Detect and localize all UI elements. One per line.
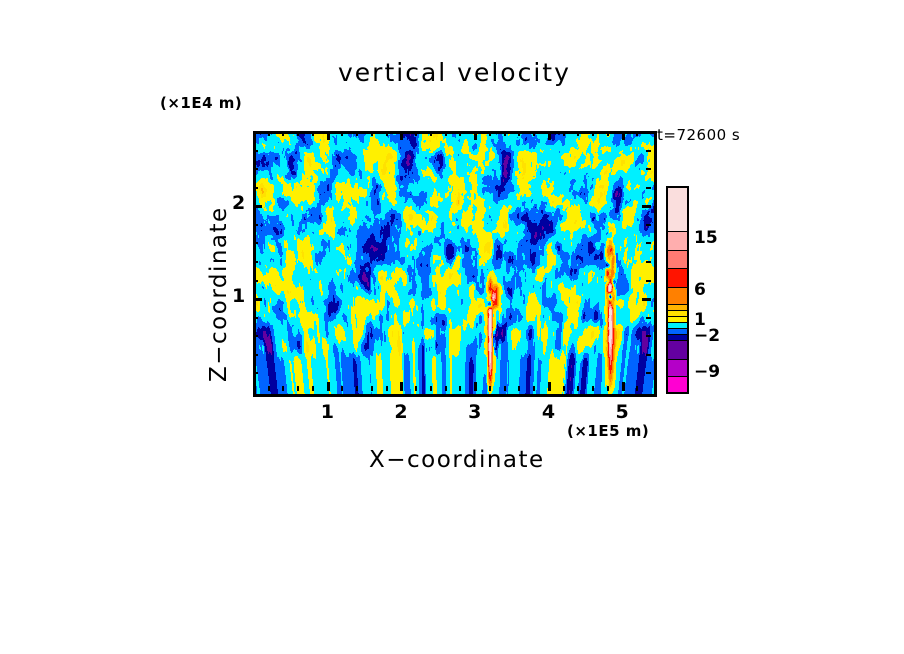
x-axis-unit-label: (×1E5 m)	[567, 422, 649, 440]
axis-tick	[415, 131, 417, 136]
axis-tick	[489, 386, 491, 391]
colorbar-tick-label: 6	[694, 280, 706, 300]
axis-tick	[327, 382, 330, 391]
axis-tick	[253, 280, 258, 282]
axis-tick	[646, 150, 651, 152]
axis-tick	[297, 131, 299, 136]
axis-tick	[356, 386, 358, 391]
axis-tick	[253, 372, 258, 374]
colorbar-segment	[668, 268, 687, 287]
axis-tick	[282, 131, 284, 136]
axis-tick	[646, 242, 651, 244]
axis-tick	[518, 131, 520, 136]
axis-tick	[253, 335, 258, 337]
axis-tick	[430, 131, 432, 136]
page-title: vertical velocity	[338, 58, 571, 87]
axis-tick	[646, 261, 651, 263]
axis-tick	[646, 354, 651, 356]
y-axis-title: Z−coordinate	[206, 206, 232, 382]
axis-tick	[445, 386, 447, 391]
axis-tick	[646, 280, 651, 282]
axis-tick	[548, 382, 551, 391]
colorbar-segment	[668, 376, 687, 392]
axis-tick	[607, 131, 609, 136]
axis-tick	[474, 382, 477, 391]
axis-tick	[646, 317, 651, 319]
axis-tick	[253, 317, 258, 319]
axis-tick	[253, 187, 258, 189]
axis-tick	[563, 131, 565, 136]
axis-tick	[430, 386, 432, 391]
axis-tick	[489, 131, 491, 136]
axis-tick	[646, 168, 651, 170]
axis-tick	[400, 382, 403, 391]
colorbar-tick-label: 15	[694, 228, 718, 248]
axis-tick	[371, 386, 373, 391]
axis-tick	[253, 354, 258, 356]
axis-tick	[268, 131, 270, 136]
axis-tick	[253, 224, 258, 226]
axis-tick	[253, 168, 258, 170]
axis-tick	[415, 386, 417, 391]
axis-tick	[636, 386, 638, 391]
x-tick-label: 2	[394, 401, 407, 423]
axis-tick	[253, 242, 258, 244]
axis-tick	[445, 131, 447, 136]
axis-tick	[504, 131, 506, 136]
colorbar-segment	[668, 287, 687, 304]
x-tick-label: 1	[321, 401, 334, 423]
x-tick-label: 4	[542, 401, 555, 423]
axis-tick	[386, 386, 388, 391]
axis-tick	[646, 335, 651, 337]
axis-tick	[533, 131, 535, 136]
time-annotation: t=72600 s	[657, 126, 740, 144]
y-axis-unit-label: (×1E4 m)	[160, 94, 242, 112]
axis-tick	[327, 131, 330, 140]
figure-root: vertical velocity (×1E4 m) t=72600 s 123…	[0, 0, 904, 654]
axis-tick	[577, 386, 579, 391]
colorbar-segment	[668, 231, 687, 250]
axis-tick	[642, 298, 651, 301]
axis-tick	[253, 150, 258, 152]
axis-tick	[577, 131, 579, 136]
axis-tick	[253, 261, 258, 263]
axis-tick	[518, 386, 520, 391]
colorbar-segment	[668, 250, 687, 269]
axis-tick	[607, 386, 609, 391]
axis-tick	[459, 386, 461, 391]
axis-tick	[592, 131, 594, 136]
axis-tick	[474, 131, 477, 140]
axis-tick	[312, 386, 314, 391]
axis-tick	[646, 372, 651, 374]
axis-tick	[548, 131, 551, 140]
colorbar-tick-label: −2	[694, 326, 720, 346]
colorbar-segment	[668, 340, 687, 359]
plot-area	[253, 131, 657, 397]
axis-tick	[312, 131, 314, 136]
axis-tick	[622, 131, 625, 140]
axis-tick	[622, 382, 625, 391]
axis-tick	[386, 131, 388, 136]
axis-tick	[646, 224, 651, 226]
axis-tick	[268, 386, 270, 391]
axis-tick	[459, 131, 461, 136]
axis-tick	[253, 298, 262, 301]
axis-tick	[371, 131, 373, 136]
x-tick-label: 3	[468, 401, 481, 423]
x-tick-label: 5	[616, 401, 629, 423]
axis-tick	[253, 205, 262, 208]
axis-tick	[297, 386, 299, 391]
axis-tick	[356, 131, 358, 136]
y-tick-label: 1	[232, 285, 245, 307]
axis-tick	[504, 386, 506, 391]
axis-tick	[341, 131, 343, 136]
axis-tick	[563, 386, 565, 391]
velocity-field-canvas	[256, 134, 654, 394]
axis-tick	[592, 386, 594, 391]
axis-tick	[400, 131, 403, 140]
x-axis-title: X−coordinate	[369, 447, 545, 473]
axis-tick	[636, 131, 638, 136]
colorbar	[666, 186, 689, 394]
axis-tick	[646, 187, 651, 189]
y-tick-label: 2	[232, 192, 245, 214]
colorbar-tick-label: −9	[694, 362, 720, 382]
colorbar-segment	[668, 359, 687, 375]
axis-tick	[282, 386, 284, 391]
axis-tick	[341, 386, 343, 391]
axis-tick	[642, 205, 651, 208]
colorbar-segment	[668, 188, 687, 231]
axis-tick	[533, 386, 535, 391]
